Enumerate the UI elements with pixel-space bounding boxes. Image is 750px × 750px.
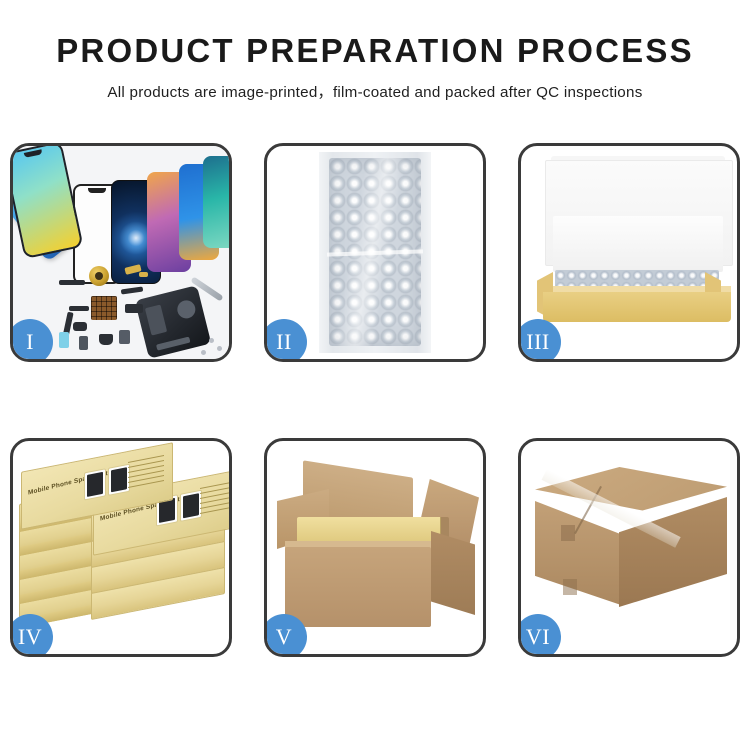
thumb-screen (111, 467, 127, 492)
box-product-thumb-2 (108, 464, 130, 496)
small-part-sim-tray (79, 336, 88, 350)
step-badge-5: V (264, 614, 307, 657)
thumb-screen (87, 472, 103, 497)
step-badge-4: IV (10, 614, 53, 657)
box-product-thumb-2 (180, 490, 202, 522)
foam-sheet (553, 216, 723, 272)
chip-array (91, 296, 117, 320)
screw-1 (209, 338, 214, 343)
screw-3 (201, 350, 206, 355)
small-part-earpiece (99, 334, 113, 345)
step-badge-3: III (518, 319, 561, 362)
carton-front-face (285, 547, 431, 627)
process-step-2: II (264, 143, 486, 362)
small-part-button (119, 330, 130, 344)
phone-screen-teal (203, 156, 229, 248)
vibration-motor (73, 322, 87, 331)
chassis-camera-module (175, 298, 197, 320)
step-badge-6: VI (518, 614, 561, 657)
carton-side-face (431, 531, 475, 615)
box-spec-lines (128, 455, 164, 496)
box-product-thumb-1 (84, 468, 106, 500)
process-step-5: V (264, 438, 486, 657)
open-carton-assembly (279, 463, 475, 635)
process-step-3: III (518, 143, 740, 362)
speaker-module-gold (89, 266, 109, 286)
carton-front-face (535, 501, 621, 605)
open-box-assembly (535, 160, 723, 339)
connector-block (125, 304, 143, 313)
process-step-1: I (10, 143, 232, 362)
chassis-connector (156, 337, 190, 351)
small-part-blue-clip (59, 332, 69, 348)
sealed-carton-assembly (535, 467, 727, 631)
box-tray-front-kraft (543, 292, 731, 322)
carton-tab-upper (561, 525, 575, 541)
retail-box-stack: Mobile Phone Spare Parts (19, 457, 225, 639)
process-step-6: VI (518, 438, 740, 657)
page-header: PRODUCT PREPARATION PROCESS All products… (0, 0, 750, 102)
page-subtitle: All products are image-printed，film-coat… (0, 80, 750, 102)
step-badge-1: I (10, 319, 53, 362)
process-step-grid: I II (10, 143, 740, 657)
antenna-strip (59, 280, 85, 285)
flex-strip (69, 306, 89, 311)
box-spec-lines (200, 481, 229, 522)
gold-contact-small (139, 272, 148, 277)
chassis-battery (145, 305, 167, 336)
thumb-screen (183, 493, 199, 518)
step-badge-2: II (264, 319, 307, 362)
page-title: PRODUCT PREPARATION PROCESS (0, 34, 750, 69)
process-step-4: Mobile Phone Spare Parts (10, 438, 232, 657)
screw-2 (217, 346, 222, 351)
infographic-page: PRODUCT PREPARATION PROCESS All products… (0, 0, 750, 750)
carton-tab-lower (563, 579, 577, 595)
